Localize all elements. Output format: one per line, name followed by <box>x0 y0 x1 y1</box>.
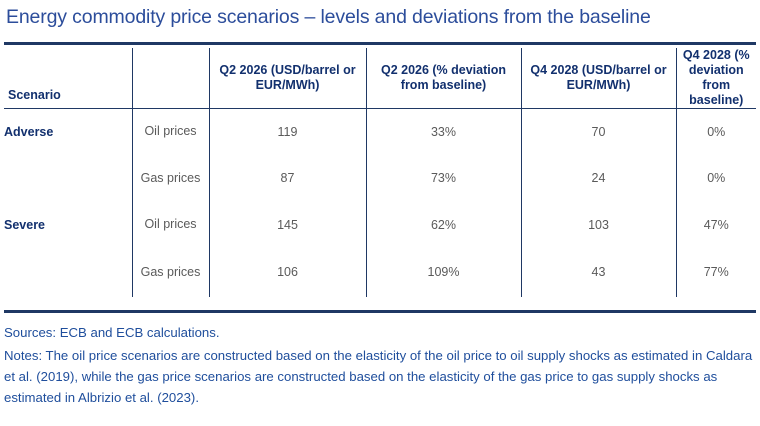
cell-q4-2028-deviation: 47% <box>676 202 756 247</box>
cell-q4-2028-deviation: 0% <box>676 154 756 202</box>
figure-footer: Sources: ECB and ECB calculations. Notes… <box>4 322 754 408</box>
cell-q4-2028-level: 103 <box>521 202 676 247</box>
cell-scenario <box>4 154 132 202</box>
column-header-q4-2028-level: Q4 2028 (USD/barrel or EUR/MWh) <box>521 48 676 109</box>
cell-scenario: Adverse <box>4 109 132 155</box>
cell-q2-2026-deviation: 109% <box>366 247 521 297</box>
cell-q2-2026-level: 119 <box>209 109 366 155</box>
scenario-table: Scenario Q2 2026 (USD/barrel or EUR/MWh)… <box>4 48 756 297</box>
cell-q2-2026-deviation: 33% <box>366 109 521 155</box>
cell-scenario: Severe <box>4 202 132 247</box>
column-header-q4-2028-deviation: Q4 2028 (% deviation from baseline) <box>676 48 756 109</box>
table-bottom-divider <box>4 310 756 313</box>
cell-q2-2026-deviation: 62% <box>366 202 521 247</box>
table-row: Gas prices 87 73% 24 0% <box>4 154 756 202</box>
cell-q2-2026-level: 106 <box>209 247 366 297</box>
sources-text: Sources: ECB and ECB calculations. <box>4 322 754 343</box>
column-header-q2-2026-deviation: Q2 2026 (% deviation from baseline) <box>366 48 521 109</box>
cell-item: Oil prices <box>132 202 209 247</box>
table-row: Severe Oil prices 145 62% 103 47% <box>4 202 756 247</box>
table-header-row: Scenario Q2 2026 (USD/barrel or EUR/MWh)… <box>4 48 756 109</box>
title-divider <box>4 42 756 45</box>
cell-q4-2028-deviation: 0% <box>676 109 756 155</box>
scenario-table-container: Scenario Q2 2026 (USD/barrel or EUR/MWh)… <box>4 48 756 284</box>
page-title: Energy commodity price scenarios – level… <box>6 6 754 29</box>
cell-q4-2028-level: 70 <box>521 109 676 155</box>
cell-q4-2028-deviation: 77% <box>676 247 756 297</box>
column-header-scenario: Scenario <box>4 48 132 109</box>
cell-item: Gas prices <box>132 247 209 297</box>
table-body: Adverse Oil prices 119 33% 70 0% Gas pri… <box>4 109 756 298</box>
table-header: Scenario Q2 2026 (USD/barrel or EUR/MWh)… <box>4 48 756 109</box>
table-row: Adverse Oil prices 119 33% 70 0% <box>4 109 756 155</box>
cell-q2-2026-deviation: 73% <box>366 154 521 202</box>
cell-item: Gas prices <box>132 154 209 202</box>
notes-text: Notes: The oil price scenarios are const… <box>4 345 754 408</box>
cell-q4-2028-level: 24 <box>521 154 676 202</box>
cell-item: Oil prices <box>132 109 209 155</box>
cell-scenario <box>4 247 132 297</box>
column-header-q2-2026-level: Q2 2026 (USD/barrel or EUR/MWh) <box>209 48 366 109</box>
table-figure-page: Energy commodity price scenarios – level… <box>0 0 760 426</box>
cell-q2-2026-level: 87 <box>209 154 366 202</box>
cell-q2-2026-level: 145 <box>209 202 366 247</box>
column-header-item <box>132 48 209 109</box>
cell-q4-2028-level: 43 <box>521 247 676 297</box>
table-row: Gas prices 106 109% 43 77% <box>4 247 756 297</box>
